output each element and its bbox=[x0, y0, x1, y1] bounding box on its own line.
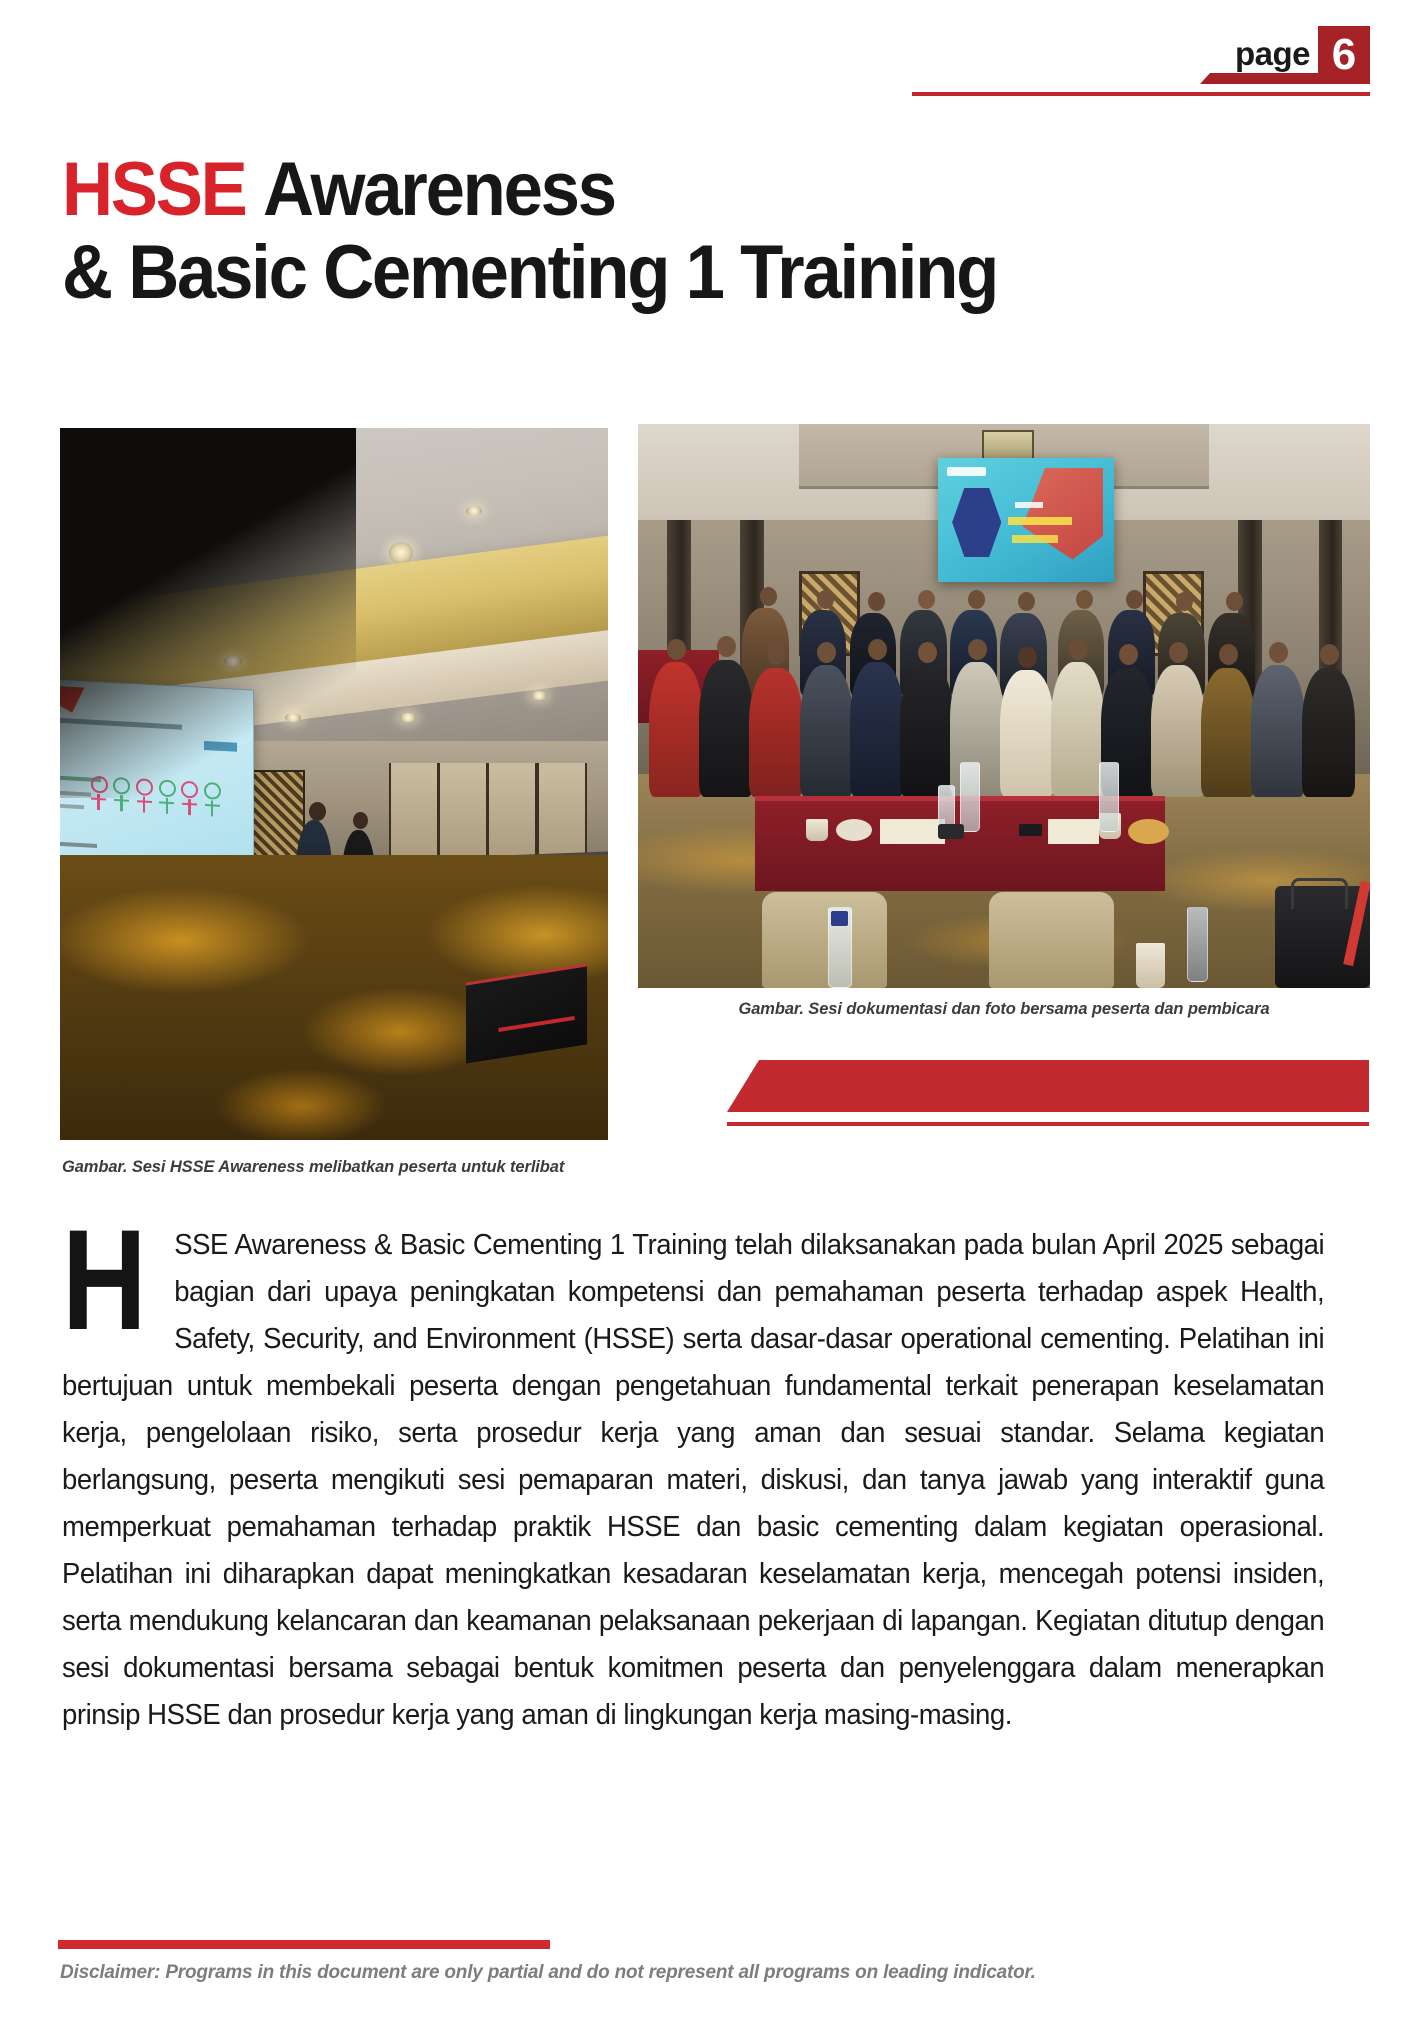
table-cup bbox=[806, 819, 828, 842]
participant-head bbox=[717, 636, 736, 657]
participant-head bbox=[1018, 592, 1035, 611]
figure-caption-group-photo: Gambar. Sesi dokumentasi dan foto bersam… bbox=[638, 1000, 1370, 1019]
participant-body bbox=[649, 662, 703, 797]
participant-body bbox=[1302, 668, 1356, 798]
figure-caption-awareness-session: Gambar. Sesi HSSE Awareness melibatkan p… bbox=[62, 1158, 622, 1177]
header-divider-rule bbox=[912, 92, 1370, 96]
screen-text-line-3 bbox=[1012, 535, 1058, 543]
figure-image-hsse-awareness-session bbox=[60, 428, 608, 1140]
participant-body bbox=[699, 660, 753, 798]
bottle-cap bbox=[831, 911, 849, 926]
participant-head bbox=[1119, 644, 1138, 665]
table-tray bbox=[1048, 819, 1099, 844]
participant-head bbox=[968, 639, 987, 660]
screen-note-text bbox=[60, 842, 97, 848]
page-label-slab bbox=[1200, 73, 1318, 84]
participant-head bbox=[817, 642, 836, 663]
article-body: H SSE Awareness & Basic Cementing 1 Trai… bbox=[62, 1222, 1370, 1739]
participant-body bbox=[1251, 665, 1305, 797]
downlight-icon bbox=[466, 506, 482, 516]
participant-head bbox=[667, 639, 686, 660]
screen-graphic-shape bbox=[1022, 468, 1103, 560]
screen-text-line-1 bbox=[1015, 502, 1043, 508]
participant-head bbox=[868, 639, 887, 660]
participant-head bbox=[1076, 590, 1093, 609]
page-header: page 6 bbox=[1200, 26, 1370, 84]
participant-head bbox=[918, 590, 935, 609]
chair bbox=[989, 892, 1113, 988]
screen-hexagon-graphic bbox=[952, 488, 1001, 557]
title-rest: Awareness bbox=[263, 147, 615, 232]
screen-subheading-text bbox=[60, 804, 85, 810]
participant-head bbox=[1126, 590, 1143, 609]
carpet-shadow bbox=[60, 428, 356, 798]
red-accent-rule bbox=[727, 1122, 1369, 1126]
downlight-icon bbox=[400, 713, 416, 722]
participant-head bbox=[1226, 592, 1243, 611]
figure-image-group-documentation-photo bbox=[638, 424, 1370, 988]
screen-text-line-2 bbox=[1008, 517, 1071, 525]
participant-head bbox=[1169, 642, 1188, 663]
page-number: 6 bbox=[1318, 26, 1370, 84]
page-label-group: page bbox=[1200, 37, 1318, 84]
paper-cup bbox=[1136, 943, 1165, 988]
footer-rule bbox=[58, 1940, 550, 1949]
thermos bbox=[1187, 907, 1208, 982]
title-highlight: HSSE bbox=[62, 147, 246, 232]
page-label: page bbox=[1235, 37, 1318, 73]
participant-body bbox=[749, 668, 803, 798]
participant-head bbox=[817, 590, 834, 609]
participant-head bbox=[1269, 642, 1288, 663]
participant-body bbox=[900, 665, 954, 797]
screen-brand-logo bbox=[947, 467, 986, 476]
water-bottle bbox=[1099, 762, 1119, 832]
mobile-phone bbox=[1019, 824, 1042, 835]
participant-body bbox=[1051, 662, 1105, 797]
participant-body bbox=[1151, 665, 1205, 797]
projector-screen bbox=[938, 458, 1114, 582]
water-bottle bbox=[960, 762, 980, 832]
participant-head bbox=[868, 592, 885, 611]
participant-head bbox=[1069, 639, 1088, 660]
article-paragraph: SSE Awareness & Basic Cementing 1 Traini… bbox=[62, 1222, 1324, 1739]
red-accent-banner bbox=[727, 1060, 1369, 1112]
participant-head bbox=[1176, 592, 1193, 611]
page-title: HSSE Awareness & Basic Cementing 1 Train… bbox=[62, 148, 1382, 314]
participant-body bbox=[1000, 670, 1054, 797]
participant-head-hijab bbox=[1018, 647, 1037, 668]
case-handle bbox=[1291, 878, 1348, 909]
disclaimer-text: Disclaimer: Programs in this document ar… bbox=[60, 1962, 1036, 1984]
participant-body bbox=[850, 662, 904, 797]
chair bbox=[762, 892, 886, 988]
title-line-2: & Basic Cementing 1 Training bbox=[62, 231, 1290, 314]
participant-body bbox=[1201, 668, 1255, 798]
participant-head bbox=[1320, 644, 1339, 665]
table-plate bbox=[1128, 819, 1168, 844]
title-spacer bbox=[246, 147, 263, 232]
participant-head bbox=[968, 590, 985, 609]
downlight-icon bbox=[389, 542, 413, 564]
participant-head bbox=[918, 642, 937, 663]
participant-body bbox=[800, 665, 854, 797]
title-line-1: HSSE Awareness bbox=[62, 148, 1290, 231]
table-device bbox=[938, 824, 964, 839]
participant-head bbox=[760, 587, 777, 606]
table-paper bbox=[880, 819, 946, 844]
